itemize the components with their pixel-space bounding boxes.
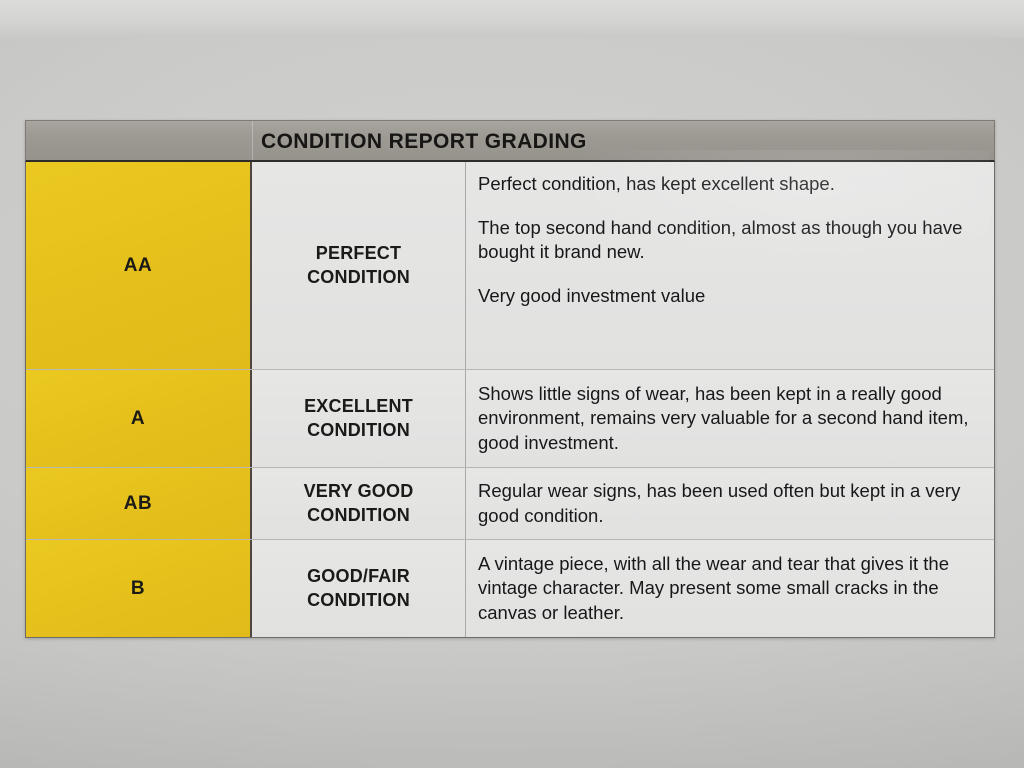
grade-name-cell: EXCELLENT CONDITION (252, 370, 466, 467)
grade-name-line-2: CONDITION (307, 420, 410, 440)
grade-name-line-2: CONDITION (307, 590, 410, 610)
table-row: AA PERFECT CONDITION Perfect condition, … (26, 162, 994, 370)
grade-code-cell: AB (26, 468, 252, 539)
grade-name-cell: PERFECT CONDITION (252, 162, 466, 369)
table-title: CONDITION REPORT GRADING (261, 121, 587, 163)
paper-top-edge (0, 0, 1024, 38)
grade-name-label: VERY GOOD CONDITION (304, 480, 414, 526)
paper-bottom-shading (0, 648, 1024, 768)
description-paragraph: A vintage piece, with all the wear and t… (478, 552, 978, 624)
grade-name-label: GOOD/FAIR CONDITION (307, 565, 410, 611)
condition-report-grading-table: CONDITION REPORT GRADING AA PERFECT COND… (25, 120, 995, 638)
grade-name-line-1: EXCELLENT (304, 396, 413, 416)
grade-description-cell: Shows little signs of wear, has been kep… (466, 370, 994, 467)
grade-name-cell: GOOD/FAIR CONDITION (252, 540, 466, 637)
table-row: A EXCELLENT CONDITION Shows little signs… (26, 370, 994, 468)
table-header-bar: CONDITION REPORT GRADING (25, 120, 995, 162)
table-row: B GOOD/FAIR CONDITION A vintage piece, w… (26, 540, 994, 637)
grade-code-label: AB (124, 493, 152, 515)
grade-name-label: EXCELLENT CONDITION (304, 395, 413, 441)
grade-name-line-1: PERFECT (316, 243, 401, 263)
grade-name-line-2: CONDITION (307, 505, 410, 525)
table-header-column-divider (252, 121, 253, 160)
grade-description-cell: A vintage piece, with all the wear and t… (466, 540, 994, 637)
grade-name-line-1: VERY GOOD (304, 481, 414, 501)
description-paragraph: Very good investment value (478, 284, 978, 308)
grade-description-cell: Regular wear signs, has been used often … (466, 468, 994, 539)
grade-code-label: A (131, 408, 145, 430)
description-paragraph: Perfect condition, has kept excellent sh… (478, 172, 978, 196)
description-paragraph: Shows little signs of wear, has been kep… (478, 382, 978, 454)
grade-name-line-2: CONDITION (307, 267, 410, 287)
grade-code-label: B (131, 578, 145, 600)
grade-name-cell: VERY GOOD CONDITION (252, 468, 466, 539)
table-row: AB VERY GOOD CONDITION Regular wear sign… (26, 468, 994, 540)
grade-code-cell: B (26, 540, 252, 637)
grade-name-label: PERFECT CONDITION (307, 242, 410, 288)
grade-name-line-1: GOOD/FAIR (307, 566, 410, 586)
description-paragraph: Regular wear signs, has been used often … (478, 479, 978, 527)
grade-code-label: AA (124, 255, 152, 277)
grade-description-cell: Perfect condition, has kept excellent sh… (466, 162, 994, 369)
description-paragraph: The top second hand condition, almost as… (478, 216, 978, 264)
grade-code-cell: AA (26, 162, 252, 369)
table-body: AA PERFECT CONDITION Perfect condition, … (25, 162, 995, 638)
grade-code-cell: A (26, 370, 252, 467)
